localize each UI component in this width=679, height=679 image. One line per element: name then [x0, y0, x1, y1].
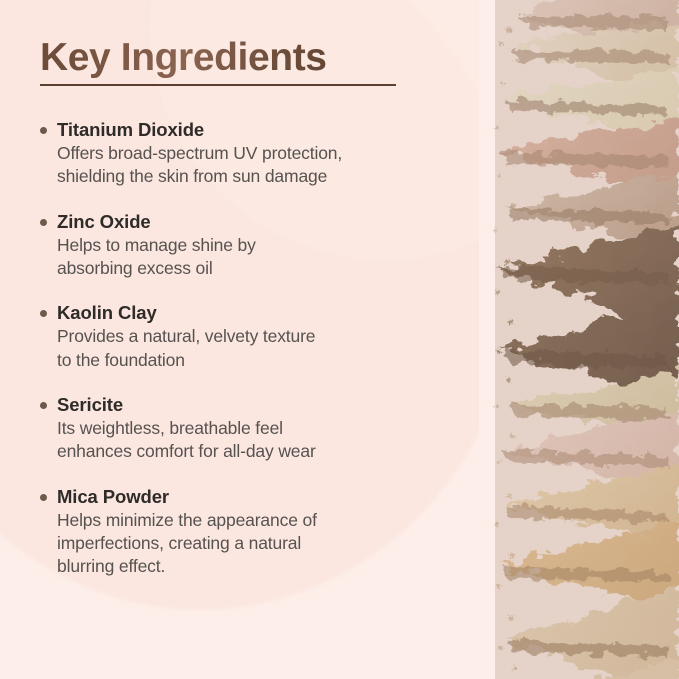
bullet-icon: [40, 310, 47, 317]
cosmetic-powder-swatches-image: [479, 0, 679, 679]
page-title-block: Key Ingredients: [40, 38, 420, 86]
page-root: Key Ingredients Titanium Dioxide Offers …: [0, 0, 679, 679]
ingredient-description: Its weightless, breathable feel enhances…: [57, 417, 448, 464]
ingredient-description: Provides a natural, velvety texture to t…: [57, 325, 448, 372]
list-item: Mica Powder Helps minimize the appearanc…: [38, 485, 448, 579]
ingredient-name: Titanium Dioxide: [57, 118, 448, 141]
page-title: Key Ingredients: [40, 38, 420, 79]
ingredient-description: Helps minimize the appearance of imperfe…: [57, 509, 448, 579]
ingredient-description: Helps to manage shine by absorbing exces…: [57, 234, 448, 281]
bullet-icon: [40, 494, 47, 501]
title-underline: [40, 84, 396, 86]
bullet-icon: [40, 127, 47, 134]
list-item: Titanium Dioxide Offers broad-spectrum U…: [38, 118, 448, 189]
bullet-icon: [40, 402, 47, 409]
ingredients-panel: Key Ingredients Titanium Dioxide Offers …: [0, 0, 470, 679]
list-item: Zinc Oxide Helps to manage shine by abso…: [38, 210, 448, 281]
list-item: Sericite Its weightless, breathable feel…: [38, 393, 448, 464]
ingredient-name: Sericite: [57, 393, 448, 416]
bullet-icon: [40, 219, 47, 226]
list-item: Kaolin Clay Provides a natural, velvety …: [38, 301, 448, 372]
ingredient-name: Mica Powder: [57, 485, 448, 508]
ingredients-list: Titanium Dioxide Offers broad-spectrum U…: [38, 118, 448, 579]
ingredient-name: Zinc Oxide: [57, 210, 448, 233]
ingredient-description: Offers broad-spectrum UV protection, shi…: [57, 142, 448, 189]
ingredient-name: Kaolin Clay: [57, 301, 448, 324]
